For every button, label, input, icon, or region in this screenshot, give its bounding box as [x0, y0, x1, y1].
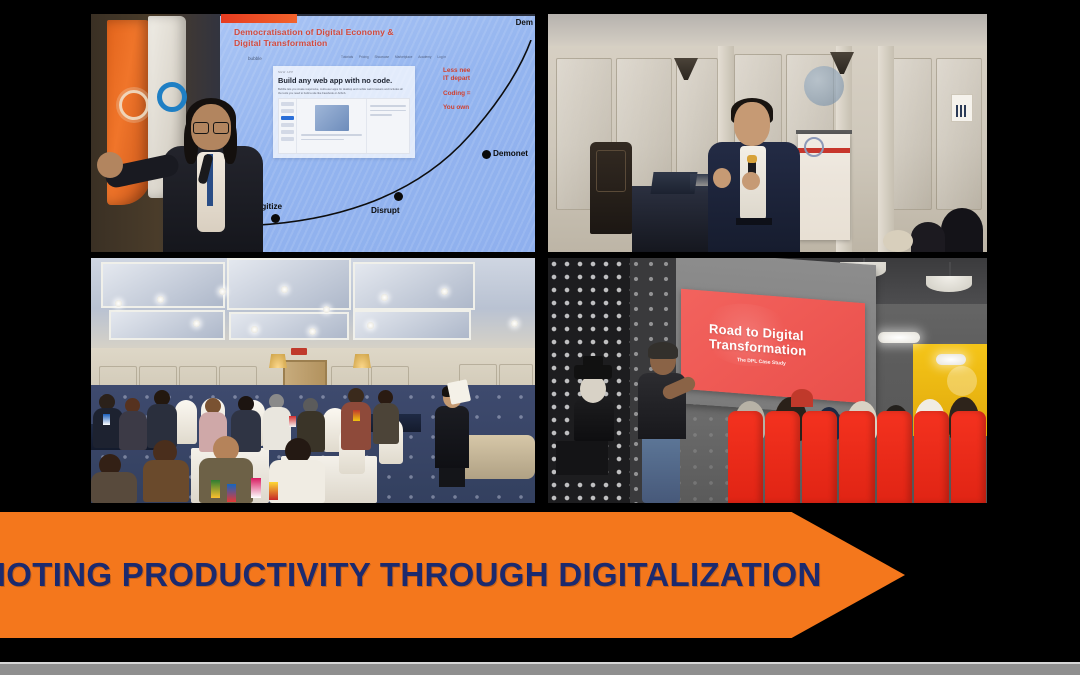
- ceiling-downlight: [157, 296, 164, 303]
- presenter-paper: [447, 379, 471, 405]
- photo-grid: Democratisation of Digital Economy & Dig…: [91, 14, 987, 503]
- photo2-wall-notice: [951, 94, 973, 122]
- presenter-jacket: [435, 406, 469, 468]
- photo4-mannequin-plinth: [556, 441, 608, 475]
- photo1-curve-node-demonetize: [482, 150, 491, 159]
- table-flag: [251, 478, 261, 498]
- ceiling-downlight: [511, 320, 518, 327]
- speaker-belt: [736, 218, 772, 225]
- wall-panel: [936, 58, 982, 210]
- wall-sconce-icon: [353, 354, 371, 368]
- presenter-glasses: [193, 122, 229, 132]
- photo-woman-presenter-projection: Democratisation of Digital Economy & Dig…: [91, 14, 535, 252]
- delegate-body: [143, 460, 189, 502]
- speaker-head: [734, 102, 770, 146]
- photo1-curve-label-demonetize: Demonet: [493, 149, 528, 158]
- red-chair: [914, 411, 949, 503]
- photo1-presenter: [157, 104, 269, 252]
- photo4-chair-row: [727, 411, 987, 503]
- bottom-gray-bar: [0, 664, 1080, 675]
- table-flag: [227, 484, 236, 502]
- title-banner: ROMOTING PRODUCTIVITY THROUGH DIGITALIZA…: [0, 512, 905, 638]
- ceiling-downlight: [193, 320, 200, 327]
- red-chair: [839, 411, 874, 503]
- photo-male-speaker-ballroom: [548, 14, 987, 252]
- photo1-curve-label-dem: Dem: [516, 18, 533, 27]
- table-flag: [269, 482, 278, 500]
- photo2-audience: [877, 190, 987, 252]
- delegate-body: [91, 472, 137, 503]
- delegate-body: [199, 458, 253, 503]
- speaker-hand-left: [713, 168, 731, 188]
- page-title: ROMOTING PRODUCTIVITY THROUGH DIGITALIZA…: [0, 512, 790, 638]
- delegate-body: [373, 403, 399, 444]
- ceiling-coffer: [353, 262, 475, 310]
- photo-red-slide-presentation: Road to Digital Transformation The DPL C…: [548, 258, 987, 503]
- red-chair: [728, 411, 763, 503]
- audience-head: [883, 230, 913, 252]
- bottom-black-bar: [0, 638, 1080, 662]
- audience-head: [911, 222, 945, 252]
- photo-conference-room-delegates: [91, 258, 535, 503]
- table-flag: [211, 480, 220, 498]
- speaker-hand-right: [742, 172, 760, 190]
- photo1-curve-label-disrupt: Disrupt: [371, 206, 400, 215]
- photo2-speaker: [708, 102, 800, 252]
- delegate: [373, 390, 399, 444]
- photo4-mannequin: [572, 369, 616, 441]
- ceiling-downlight: [367, 322, 374, 329]
- photo1-curve-node-disrupt: [394, 192, 403, 201]
- red-chair: [765, 411, 800, 503]
- delegate: [143, 440, 189, 502]
- pendant-light: [926, 276, 972, 292]
- ceiling-downlight: [251, 326, 258, 333]
- presenter-hand: [97, 152, 123, 178]
- ceiling-coffer: [109, 310, 225, 340]
- ceiling-downlight: [281, 286, 288, 293]
- ceiling-strip-light: [878, 332, 920, 343]
- ceiling-downlight: [309, 328, 316, 335]
- ceiling-downlight: [381, 294, 388, 301]
- ceiling-strip-light: [936, 354, 966, 365]
- presenter-jeans: [642, 435, 680, 503]
- ceiling-coffer: [227, 258, 351, 310]
- ceiling-downlight: [323, 306, 330, 313]
- delegate: [91, 454, 137, 503]
- ceiling-downlight: [219, 288, 226, 295]
- photo4-presenter: [634, 345, 690, 503]
- ceiling-coffer: [229, 312, 349, 340]
- wall-panel: [888, 58, 932, 210]
- mannequin-body: [574, 399, 614, 441]
- photo4-slide-title: Road to Digital Transformation: [709, 321, 849, 362]
- audience-hat: [791, 389, 813, 407]
- wall-sconce-icon: [269, 354, 287, 368]
- photo2-ornate-chair: [590, 142, 632, 234]
- red-chair: [802, 411, 837, 503]
- mannequin-head: [580, 375, 606, 403]
- photo2-ceiling: [548, 14, 987, 46]
- ceiling-downlight: [441, 288, 448, 295]
- table-flag: [353, 410, 360, 421]
- table-flag: [103, 414, 110, 425]
- photo2-banner-graphic: [804, 66, 844, 106]
- table-flag: [289, 416, 296, 427]
- red-chair: [951, 411, 986, 503]
- ceiling-downlight: [115, 300, 122, 307]
- photo1-curve-node-digitize: [271, 214, 280, 223]
- photo3-presenter: [433, 387, 471, 485]
- slide-root: Democratisation of Digital Economy & Dig…: [0, 0, 1080, 675]
- banquet-chair: [175, 400, 197, 444]
- audience-head: [941, 208, 983, 252]
- exit-sign: [291, 348, 307, 355]
- delegate: [199, 436, 253, 503]
- presenter-hair: [648, 342, 678, 359]
- photo1-slide-accent-bar: [221, 14, 297, 23]
- red-chair: [877, 411, 912, 503]
- photo4-slide-subtitle: The DPL Case Study: [737, 357, 786, 367]
- mannequin-hat: [574, 365, 612, 379]
